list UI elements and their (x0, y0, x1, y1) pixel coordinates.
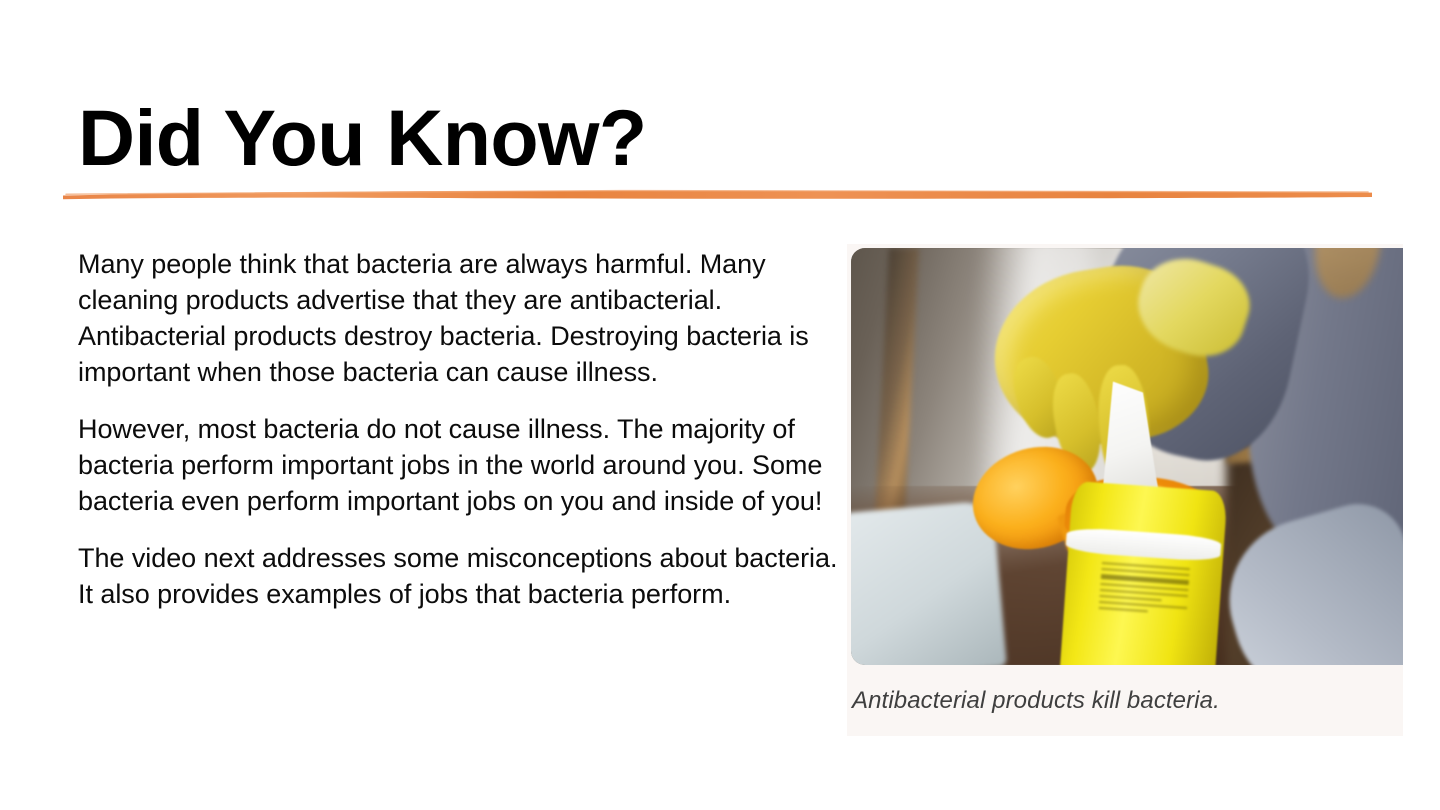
paragraph-3: The video next addresses some misconcept… (78, 540, 838, 612)
body-text-column: Many people think that bacteria are alwa… (78, 246, 838, 612)
paragraph-1: Many people think that bacteria are alwa… (78, 246, 838, 390)
figure: Antibacterial products kill bacteria. (847, 244, 1403, 736)
orange-underline-divider (60, 182, 1375, 204)
page-title: Did You Know? (78, 98, 647, 177)
figure-caption: Antibacterial products kill bacteria. (852, 684, 1392, 718)
paragraph-2: However, most bacteria do not cause illn… (78, 411, 838, 519)
photo-canvas (851, 248, 1403, 665)
photo-antibacterial-wipes (851, 248, 1403, 665)
photo-canister-label (1097, 562, 1191, 651)
slide: Did You Know? Many people think that bac… (0, 0, 1440, 810)
